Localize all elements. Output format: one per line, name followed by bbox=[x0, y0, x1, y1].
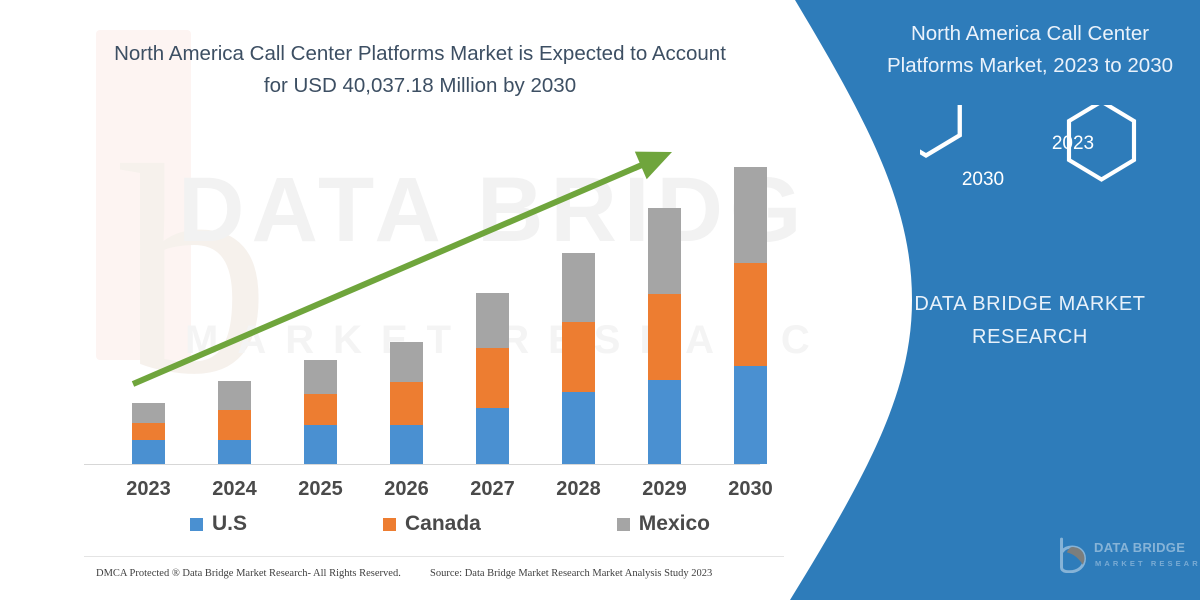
bar-segment-mx-2023 bbox=[132, 403, 165, 423]
legend-swatch-icon bbox=[617, 518, 630, 531]
brand-panel-title: North America Call Center Platforms Mark… bbox=[880, 18, 1180, 82]
legend-label: U.S bbox=[212, 512, 247, 536]
brand-name-line-1: DATA BRIDGE MARKET bbox=[914, 293, 1145, 315]
bar-segment-ca-2029 bbox=[648, 294, 681, 380]
logo-text-sub: MARKET RESEARCH bbox=[1095, 559, 1200, 568]
bar-segment-us-2028 bbox=[562, 392, 595, 464]
x-axis-label-2024: 2024 bbox=[195, 478, 275, 501]
x-axis-label-2025: 2025 bbox=[281, 478, 361, 501]
legend: U.SCanadaMexico bbox=[190, 512, 710, 536]
x-axis-label-2026: 2026 bbox=[367, 478, 447, 501]
legend-label: Canada bbox=[405, 512, 481, 536]
bar-2028 bbox=[562, 253, 595, 464]
bar-segment-mx-2026 bbox=[390, 342, 423, 382]
brand-name-line-2: RESEARCH bbox=[972, 326, 1088, 348]
footer-source: Source: Data Bridge Market Research Mark… bbox=[430, 568, 712, 579]
brand-name: DATA BRIDGE MARKET RESEARCH bbox=[880, 288, 1180, 354]
bar-2023 bbox=[132, 403, 165, 464]
bar-segment-us-2029 bbox=[648, 380, 681, 464]
bar-segment-us-2030 bbox=[734, 366, 767, 464]
plot-area: 20232024202520262027202820292030 bbox=[0, 0, 800, 600]
logo-mark-icon bbox=[1058, 537, 1088, 573]
bar-2027 bbox=[476, 293, 509, 464]
bar-2026 bbox=[390, 342, 423, 464]
bar-segment-mx-2029 bbox=[648, 208, 681, 294]
bar-segment-ca-2028 bbox=[562, 322, 595, 392]
hexagon-2030 bbox=[920, 105, 960, 156]
bar-segment-mx-2030 bbox=[734, 167, 767, 263]
bar-segment-ca-2027 bbox=[476, 348, 509, 408]
bar-segment-mx-2027 bbox=[476, 293, 509, 348]
bar-segment-mx-2025 bbox=[304, 360, 337, 394]
footer-copyright: DMCA Protected ® Data Bridge Market Rese… bbox=[96, 568, 401, 579]
x-axis-label-2029: 2029 bbox=[625, 478, 705, 501]
bar-segment-ca-2030 bbox=[734, 263, 767, 366]
hexagon-label-2030: 2030 bbox=[948, 169, 1018, 191]
bar-segment-ca-2026 bbox=[390, 382, 423, 425]
bar-2029 bbox=[648, 208, 681, 464]
chart-panel: b DATA BRIDGE MARKET RESEARCH North Amer… bbox=[0, 0, 800, 600]
bar-segment-us-2026 bbox=[390, 425, 423, 464]
legend-swatch-icon bbox=[190, 518, 203, 531]
bar-segment-ca-2025 bbox=[304, 394, 337, 425]
x-axis-label-2028: 2028 bbox=[539, 478, 619, 501]
hexagon-outlines bbox=[920, 105, 1150, 230]
brand-panel: North America Call Center Platforms Mark… bbox=[880, 0, 1200, 600]
year-hexagons: 2023 2030 bbox=[920, 105, 1150, 230]
x-axis-label-2027: 2027 bbox=[453, 478, 533, 501]
hexagon-label-2023: 2023 bbox=[1038, 133, 1108, 155]
bar-2030 bbox=[734, 167, 767, 464]
bar-segment-ca-2023 bbox=[132, 423, 165, 440]
x-axis-label-2023: 2023 bbox=[109, 478, 189, 501]
bar-segment-us-2025 bbox=[304, 425, 337, 464]
bar-segment-mx-2028 bbox=[562, 253, 595, 322]
data-bridge-logo: DATA BRIDGE MARKET RESEARCH bbox=[1058, 534, 1198, 580]
bar-2024 bbox=[218, 381, 251, 464]
bar-segment-mx-2024 bbox=[218, 381, 251, 410]
legend-item-mexico[interactable]: Mexico bbox=[617, 512, 710, 536]
bar-segment-ca-2024 bbox=[218, 410, 251, 440]
legend-swatch-icon bbox=[383, 518, 396, 531]
x-axis-line bbox=[84, 464, 760, 465]
x-axis-label-2030: 2030 bbox=[711, 478, 791, 501]
legend-item-canada[interactable]: Canada bbox=[383, 512, 481, 536]
logo-text-main: DATA BRIDGE bbox=[1094, 540, 1185, 555]
footer-divider bbox=[84, 556, 784, 557]
infographic-canvas: b DATA BRIDGE MARKET RESEARCH North Amer… bbox=[0, 0, 1200, 600]
bar-segment-us-2023 bbox=[132, 440, 165, 464]
legend-item-us[interactable]: U.S bbox=[190, 512, 247, 536]
bar-2025 bbox=[304, 360, 337, 464]
legend-label: Mexico bbox=[639, 512, 710, 536]
bar-segment-us-2024 bbox=[218, 440, 251, 464]
bar-segment-us-2027 bbox=[476, 408, 509, 464]
